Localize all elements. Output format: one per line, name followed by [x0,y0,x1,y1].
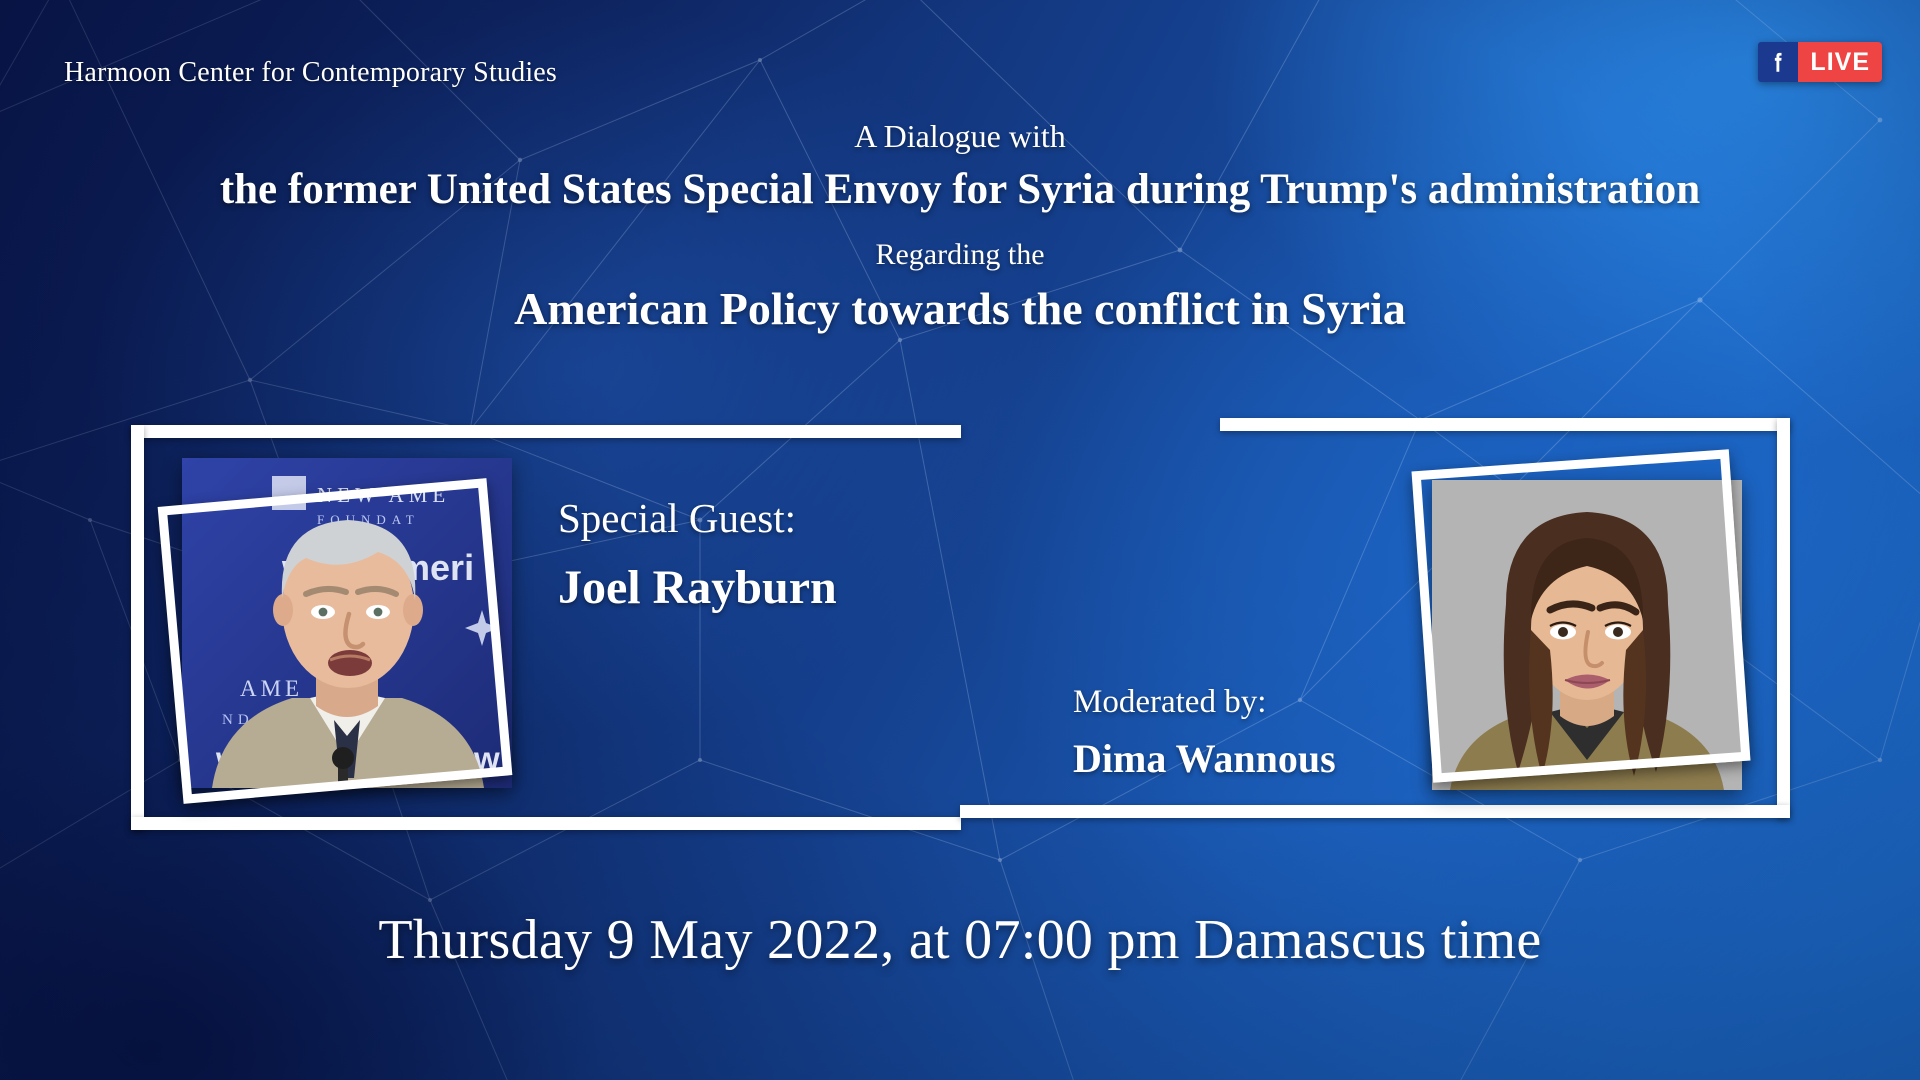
title-line-2: the former United States Special Envoy f… [0,162,1920,218]
title-line-4: American Policy towards the conflict in … [0,279,1920,339]
guest-role-label: Special Guest: [558,495,837,542]
svg-text:AME: AME [240,676,303,701]
event-datetime: Thursday 9 May 2022, at 07:00 pm Damascu… [0,908,1920,972]
moderator-photo [1432,480,1742,790]
bracket-top-bar [131,425,961,438]
moderator-label-block: Moderated by: Dima Wannous [1073,684,1336,782]
facebook-live-badge: LIVE [1758,42,1882,82]
moderator-role-label: Moderated by: [1073,684,1336,722]
svg-text:NEW AME: NEW AME [317,483,450,507]
guest-name: Joel Rayburn [558,560,837,615]
facebook-icon [1758,42,1798,82]
bracket-top-bar [1220,418,1790,431]
event-poster: Harmoon Center for Contemporary Studies … [0,0,1920,1080]
title-line-1: A Dialogue with [0,116,1920,156]
title-block: A Dialogue with the former United States… [0,116,1920,339]
title-line-3: Regarding the [0,236,1920,274]
bracket-right-bar [1777,418,1790,818]
guest-photo: NEW AME FOUNDAT w ameri AME NDAT wameri … [182,458,512,788]
bracket-bottom-bar [131,817,961,830]
bracket-left-bar [131,425,144,830]
bracket-bottom-bar [960,805,1790,818]
live-label: LIVE [1798,42,1882,82]
moderator-name: Dima Wannous [1073,736,1336,782]
guest-label-block: Special Guest: Joel Rayburn [558,495,837,615]
organization-name: Harmoon Center for Contemporary Studies [64,57,557,89]
